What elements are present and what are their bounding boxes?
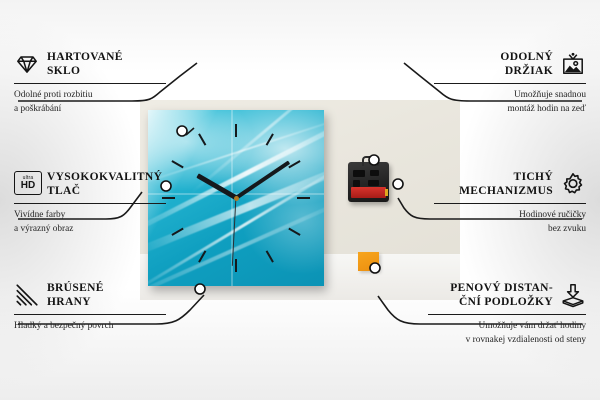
- battery: [351, 187, 386, 198]
- mechanism-detail: [353, 170, 365, 177]
- feature-header: HARTOVANÉ SKLO: [14, 50, 166, 79]
- feature-title: VYSOKOKVALITNÝ TLAČ: [47, 170, 162, 199]
- clock-mechanism: [348, 162, 389, 202]
- feature-title: TICHÝ MECHANIZMUS: [459, 170, 553, 199]
- wall-clock-face: [148, 110, 324, 286]
- feature-description: Hladký a bezpečný povrch: [14, 320, 166, 333]
- clock-center-pin: [234, 196, 239, 201]
- clock-tick: [162, 197, 236, 199]
- diamond-icon: [14, 51, 40, 77]
- feature-title: BRÚSENÉ HRANY: [47, 281, 104, 310]
- press-pad-icon: [560, 282, 586, 308]
- clock-tick: [236, 197, 310, 199]
- feature-title: ODOLNÝ DRŽIAK: [500, 50, 553, 79]
- feature-divider: [434, 203, 586, 204]
- feature-description: Vivídne farby a výrazný obraz: [14, 209, 166, 236]
- feature-header: PENOVÝ DISTAN- ČNÍ PODLOŽKY: [428, 281, 586, 310]
- feature-header: ultra HD VYSOKOKVALITNÝ TLAČ: [14, 170, 166, 199]
- feature-header: TICHÝ MECHANIZMUS: [434, 170, 586, 199]
- feature-durable-holder: ODOLNÝ DRŽIAK Umožňuje snadnou montáž ho…: [434, 50, 586, 116]
- feature-silent-mechanism: TICHÝ MECHANIZMUS Hodinové ručičky bez z…: [434, 170, 586, 236]
- feature-title: HARTOVANÉ SKLO: [47, 50, 123, 79]
- product-photo: [140, 100, 460, 300]
- mechanism-detail: [353, 180, 360, 187]
- feature-description: Umožňuje vám držať hodiny v rovnakej vzd…: [428, 320, 586, 347]
- feature-ground-edges: BRÚSENÉ HRANY Hladký a bezpečný povrch: [14, 281, 166, 334]
- feature-divider: [428, 314, 586, 315]
- feature-description: Odolné proti rozbitiu a poškrábání: [14, 89, 166, 116]
- feature-high-quality-print: ultra HD VYSOKOKVALITNÝ TLAČ Vivídne far…: [14, 170, 166, 236]
- feature-divider: [14, 83, 166, 84]
- infographic-canvas: HARTOVANÉ SKLO Odolné proti rozbitiu a p…: [0, 0, 600, 400]
- framed-picture-icon: [560, 51, 586, 77]
- foam-spacer-pad: [358, 252, 379, 271]
- mechanism-detail: [370, 170, 379, 176]
- feature-description: Hodinové ručičky bez zvuku: [434, 209, 586, 236]
- feature-header: BRÚSENÉ HRANY: [14, 281, 166, 310]
- hatched-edge-icon: [14, 282, 40, 308]
- gear-icon: [560, 171, 586, 197]
- feature-description: Umožňuje snadnou montáž hodin na zeď: [434, 89, 586, 116]
- mechanism-hanger-hook: [362, 156, 379, 166]
- ultra-hd-badge-icon: ultra HD: [14, 171, 40, 197]
- feature-divider: [14, 314, 166, 315]
- clock-tick: [235, 124, 237, 198]
- mechanism-detail: [368, 180, 379, 186]
- feature-divider: [14, 203, 166, 204]
- feature-title: PENOVÝ DISTAN- ČNÍ PODLOŽKY: [450, 281, 553, 310]
- feature-divider: [434, 83, 586, 84]
- feature-foam-spacers: PENOVÝ DISTAN- ČNÍ PODLOŽKY Umožňuje vám…: [428, 281, 586, 347]
- feature-header: ODOLNÝ DRŽIAK: [434, 50, 586, 79]
- feature-tempered-glass: HARTOVANÉ SKLO Odolné proti rozbitiu a p…: [14, 50, 166, 116]
